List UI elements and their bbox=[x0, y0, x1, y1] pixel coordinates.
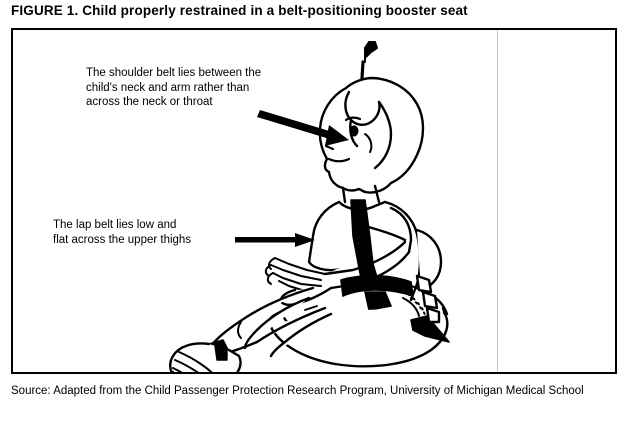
page-title: FIGURE 1. Child properly restrained in a… bbox=[11, 3, 468, 19]
figure-page: FIGURE 1. Child properly restrained in a… bbox=[0, 0, 637, 423]
annotation-lap-belt: The lap belt lies low and flat across th… bbox=[53, 218, 253, 247]
figure-frame: The shoulder belt lies between the child… bbox=[11, 28, 617, 374]
source-note: Source: Adapted from the Child Passenger… bbox=[11, 384, 626, 399]
annotation-shoulder-belt: The shoulder belt lies between the child… bbox=[86, 66, 326, 110]
